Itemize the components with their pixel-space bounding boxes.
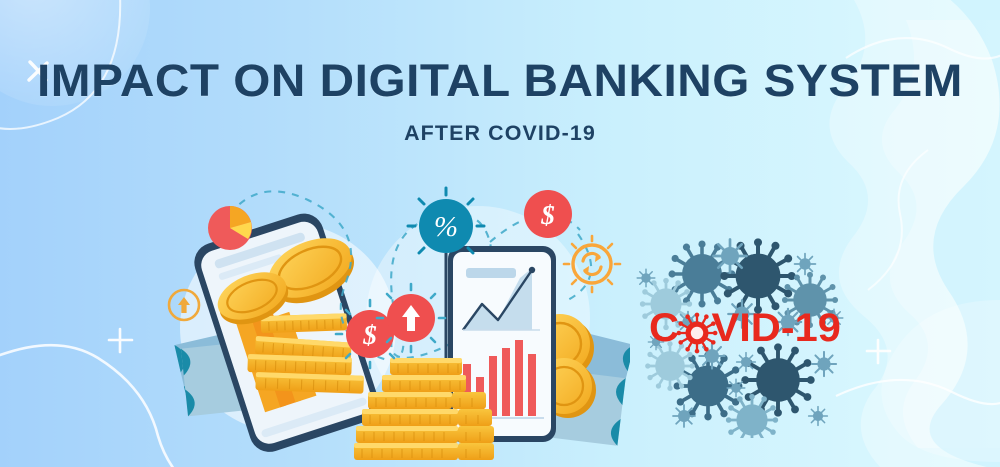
refresh-badge [564, 236, 620, 292]
svg-text:$: $ [362, 320, 377, 350]
blob-bottom-right [881, 300, 1000, 462]
covid-virus-cluster: COVID-19 [620, 238, 870, 438]
pie-chart [208, 206, 252, 250]
covid-o-virus-icon [674, 310, 720, 356]
dollar-badge-top: $ [524, 190, 572, 238]
percent-badge: % [408, 188, 484, 264]
wave-line-mid-right [868, 150, 928, 290]
banking-illustration: % $ [160, 178, 630, 467]
banner-root: IMPACT ON DIGITAL BANKING SYSTEM AFTER C… [0, 0, 1000, 467]
covid-suffix: VID-19 [711, 306, 840, 350]
page-subtitle: AFTER COVID-19 [0, 122, 1000, 146]
headline-block: IMPACT ON DIGITAL BANKING SYSTEM AFTER C… [0, 58, 1000, 146]
svg-text:$: $ [540, 200, 555, 230]
arrow-up-badge [377, 284, 445, 352]
sparkle-bottom-left [109, 329, 132, 352]
page-title: IMPACT ON DIGITAL BANKING SYSTEM [0, 58, 1000, 103]
svg-text:%: % [434, 211, 458, 243]
coin-stack-phone-lower [247, 336, 364, 394]
covid-19-wordmark: COVID-19 [615, 308, 875, 348]
